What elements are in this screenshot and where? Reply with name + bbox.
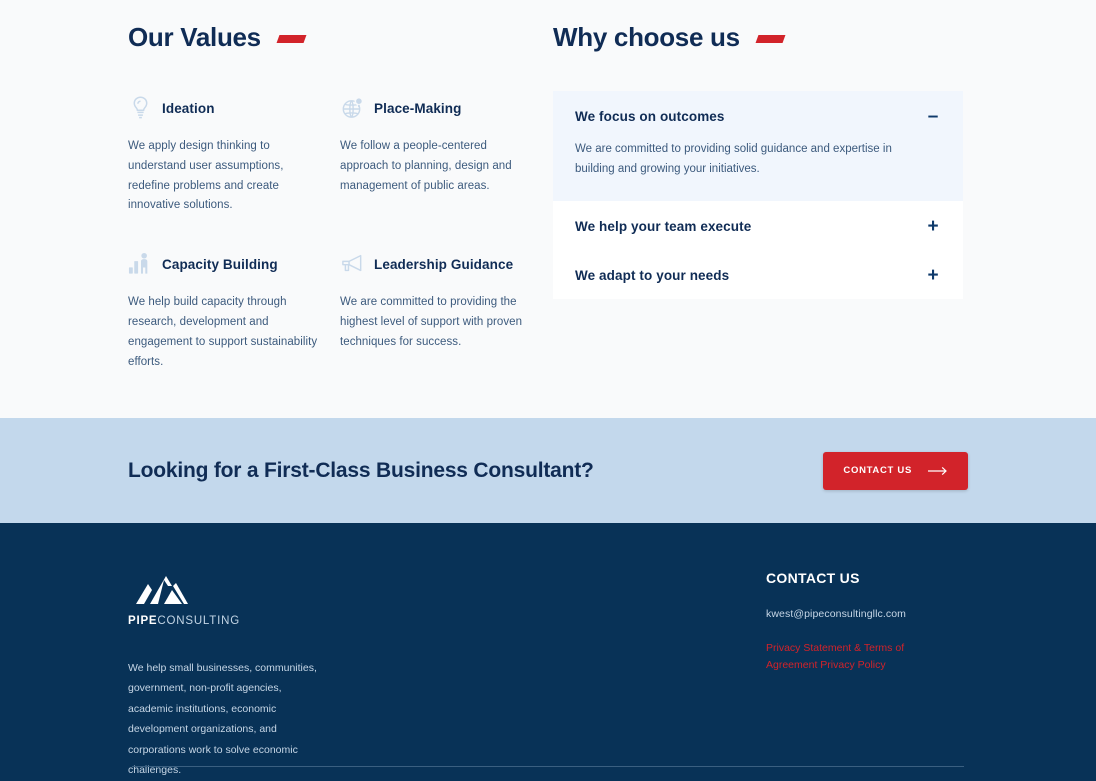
accordion-title: We adapt to your needs: [575, 268, 729, 283]
logo-word-light: CONSULTING: [157, 615, 240, 627]
why-choose-us-title: Why choose us: [553, 22, 740, 53]
red-dash-accent-icon: [755, 35, 785, 43]
accordion-title: We help your team execute: [575, 219, 751, 234]
pipe-mountain-logo-icon: [128, 570, 224, 610]
footer-inner: PIPECONSULTING We help small businesses,…: [128, 523, 968, 781]
why-choose-us-accordion: We focus on outcomes – We are committed …: [553, 91, 963, 299]
our-values-title: Our Values: [128, 22, 261, 53]
footer-email-link[interactable]: kwest@pipeconsultingllc.com: [766, 608, 968, 620]
value-description: We help build capacity through research,…: [128, 293, 326, 372]
value-title: Leadership Guidance: [374, 257, 513, 272]
value-card-place-making: Place-Making We follow a people-centered…: [340, 93, 540, 216]
plus-icon[interactable]: +: [925, 217, 941, 236]
globe-pin-icon: [340, 95, 365, 121]
value-card-leadership-guidance: Leadership Guidance We are committed to …: [340, 216, 540, 372]
accordion-header[interactable]: We adapt to your needs +: [553, 250, 963, 299]
plus-icon[interactable]: +: [925, 266, 941, 285]
red-dash-accent-icon: [276, 35, 306, 43]
value-card-header: Place-Making: [340, 93, 526, 123]
contact-us-button-label: CONTACT US: [843, 465, 912, 476]
content-container: Our Values: [128, 0, 968, 372]
cta-banner: Looking for a First-Class Business Consu…: [0, 418, 1096, 523]
our-values-column: Our Values: [128, 22, 553, 372]
accordion-header[interactable]: We help your team execute +: [553, 201, 963, 250]
value-title: Place-Making: [374, 101, 461, 116]
footer-contact-column: CONTACT US kwest@pipeconsultingllc.com P…: [766, 570, 968, 781]
minus-icon[interactable]: –: [925, 107, 941, 126]
footer-about-text: We help small businesses, communities, g…: [128, 658, 328, 781]
accordion-body: We are committed to providing solid guid…: [553, 140, 963, 201]
lightbulb-icon: [128, 95, 153, 121]
value-card-ideation: Ideation We apply design thinking to und…: [128, 93, 340, 216]
value-card-header: Capacity Building: [128, 249, 326, 279]
our-values-heading-row: Our Values: [128, 22, 553, 53]
accordion-header[interactable]: We focus on outcomes –: [553, 91, 963, 140]
value-title: Ideation: [162, 101, 215, 116]
accordion-item-adapt-to-needs[interactable]: We adapt to your needs +: [553, 250, 963, 299]
footer-logo-wordmark: PIPECONSULTING: [128, 615, 228, 627]
content-section: Our Values: [0, 0, 1096, 418]
value-description: We follow a people-centered approach to …: [340, 137, 526, 196]
contact-us-button[interactable]: CONTACT US: [823, 452, 968, 490]
page-root: Our Values: [0, 0, 1096, 781]
footer-brand-column: PIPECONSULTING We help small businesses,…: [128, 570, 766, 781]
footer-divider: [132, 766, 964, 767]
site-footer: PIPECONSULTING We help small businesses,…: [0, 523, 1096, 781]
value-description: We are committed to providing the highes…: [340, 293, 526, 352]
why-choose-us-heading-row: Why choose us: [553, 22, 968, 53]
arrow-right-icon: [928, 466, 948, 476]
megaphone-icon: [340, 251, 365, 277]
logo-word-bold: PIPE: [128, 615, 157, 627]
value-description: We apply design thinking to understand u…: [128, 137, 326, 216]
bar-chart-person-icon: [128, 251, 153, 277]
two-column-layout: Our Values: [128, 0, 968, 372]
cta-inner: Looking for a First-Class Business Consu…: [128, 452, 968, 490]
accordion-item-focus-on-outcomes[interactable]: We focus on outcomes – We are committed …: [553, 91, 963, 201]
values-grid: Ideation We apply design thinking to und…: [128, 93, 553, 372]
footer-legal-links[interactable]: Privacy Statement & Terms of Agreement P…: [766, 640, 916, 674]
accordion-title: We focus on outcomes: [575, 109, 725, 124]
value-card-header: Leadership Guidance: [340, 249, 526, 279]
why-choose-us-column: Why choose us We focus on outcomes – We …: [553, 22, 968, 372]
footer-logo[interactable]: PIPECONSULTING: [128, 570, 228, 627]
footer-contact-heading: CONTACT US: [766, 570, 968, 586]
value-card-capacity-building: Capacity Building We help build capacity…: [128, 216, 340, 372]
value-title: Capacity Building: [162, 257, 278, 272]
accordion-item-help-team-execute[interactable]: We help your team execute +: [553, 201, 963, 250]
value-card-header: Ideation: [128, 93, 326, 123]
cta-headline: Looking for a First-Class Business Consu…: [128, 459, 594, 483]
